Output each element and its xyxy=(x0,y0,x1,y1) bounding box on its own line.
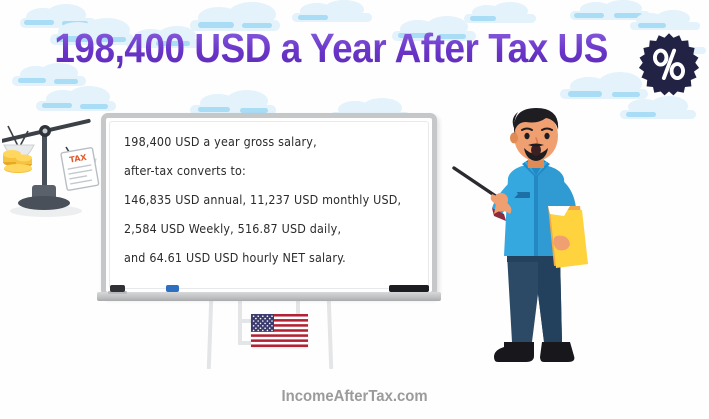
board-line: 146,835 USD annual, 11,237 USD monthly U… xyxy=(124,194,416,206)
blue-marker-icon xyxy=(166,285,179,292)
whiteboard-surface: 198,400 USD a year gross salary, after-t… xyxy=(109,121,429,289)
stand-leg-right xyxy=(327,299,333,369)
board-line: and 64.61 USD USD hourly NET salary. xyxy=(124,252,416,264)
percent-badge xyxy=(637,32,701,96)
folder-icon xyxy=(548,206,588,268)
footer: IncomeAfterTax.com xyxy=(0,388,709,406)
page-title-container: 198,400 USD a Year After Tax US xyxy=(0,17,709,79)
marker-tray xyxy=(97,292,441,301)
stand-leg-left xyxy=(207,299,213,369)
eraser-icon xyxy=(110,285,125,292)
board-line: 2,584 USD Weekly, 516.87 USD daily, xyxy=(124,223,416,235)
cloud-decoration xyxy=(36,86,120,112)
cloud-decoration xyxy=(620,96,700,120)
board-line: 198,400 USD a year gross salary, xyxy=(124,136,416,148)
page-title: 198,400 USD a Year After Tax US xyxy=(54,28,654,69)
infographic-canvas: 198,400 USD a Year After Tax US xyxy=(0,0,709,419)
head xyxy=(510,108,558,161)
tax-document: TAX xyxy=(61,148,99,191)
whiteboard: 198,400 USD a year gross salary, after-t… xyxy=(101,113,437,297)
black-marker-icon xyxy=(389,285,429,292)
board-line: after-tax converts to: xyxy=(124,165,416,177)
us-flag xyxy=(251,314,308,347)
balance-scale-icon: TAX xyxy=(2,112,108,220)
site-name: IncomeAfterTax.com xyxy=(281,388,427,406)
shoes xyxy=(494,342,574,362)
pants xyxy=(507,252,562,342)
presenter-illustration xyxy=(452,104,632,389)
